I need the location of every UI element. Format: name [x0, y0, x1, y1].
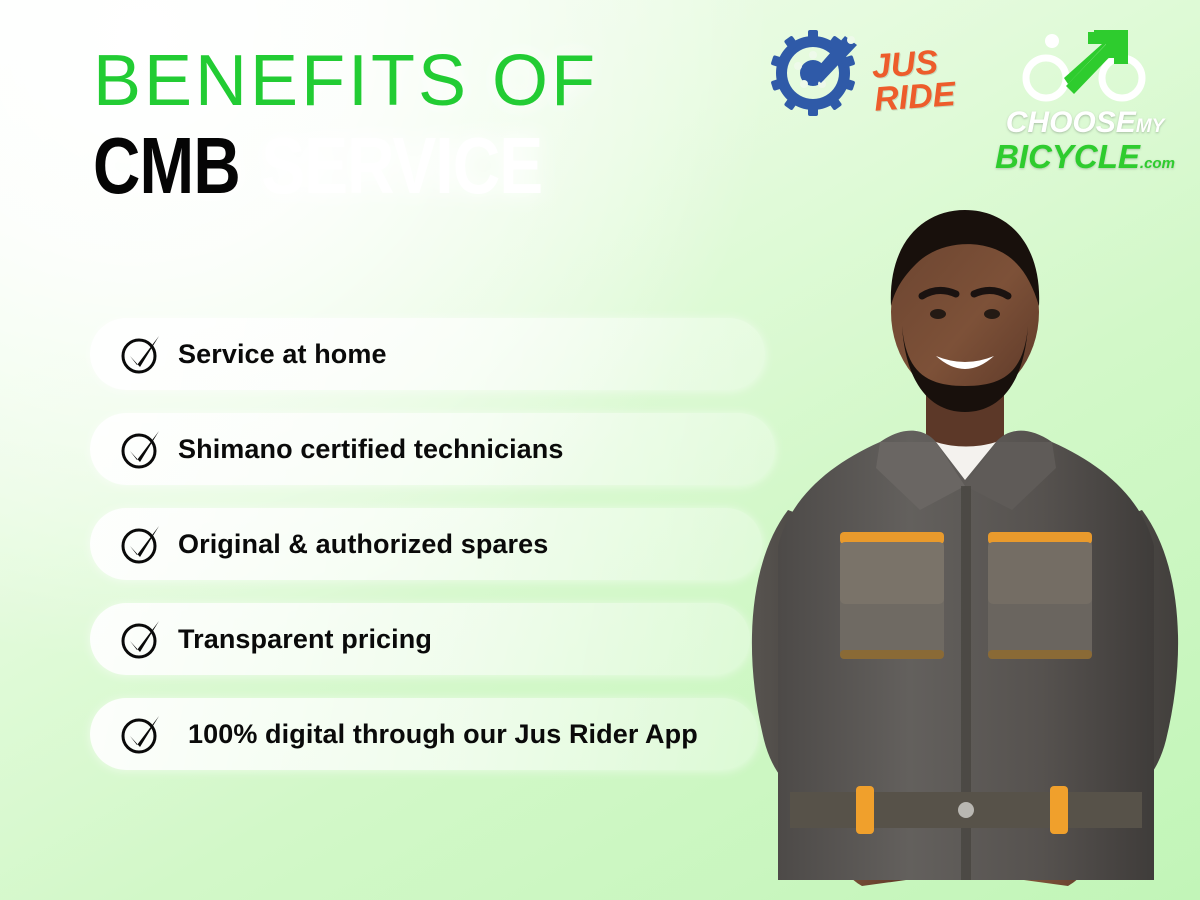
- bicycle-text: BICYCLE: [995, 138, 1140, 175]
- benefits-list: Service at home Shimano certified techni…: [90, 318, 775, 793]
- benefit-label: Service at home: [178, 339, 387, 370]
- check-circle-icon: [118, 522, 162, 566]
- headline-block: BENEFITS OF CMBSERVICE: [93, 42, 793, 208]
- check-circle-icon: [118, 332, 162, 376]
- headline-word-service: SERVICE: [261, 121, 542, 210]
- check-circle-icon: [118, 427, 162, 471]
- jus-ride-wordmark: JUS RIDE: [871, 45, 957, 117]
- benefit-label: Original & authorized spares: [178, 529, 548, 560]
- choose-text: CHOOSE: [1006, 106, 1136, 139]
- choosemybicycle-wordmark-line-1: CHOOSEMY: [1006, 107, 1165, 142]
- check-circle-icon: [118, 617, 162, 661]
- benefit-label: 100% digital through our Jus Rider App: [188, 719, 698, 750]
- benefit-item: Transparent pricing: [90, 603, 750, 675]
- headline-brand-cmb: CMB: [93, 121, 240, 210]
- headline-line-1: BENEFITS OF: [93, 42, 793, 120]
- jus-ride-logo[interactable]: JUS RIDE: [767, 28, 954, 133]
- benefit-label: Shimano certified technicians: [178, 434, 564, 465]
- jus-ride-line-2: RIDE: [873, 78, 956, 117]
- benefit-item: Original & authorized spares: [90, 508, 762, 580]
- check-circle-icon: [118, 712, 162, 756]
- technician-photo: [730, 180, 1200, 900]
- headline-line-2: CMBSERVICE: [93, 124, 667, 208]
- logo-group: JUS RIDE: [767, 28, 1180, 181]
- bicycle-arrow-icon: [1010, 28, 1160, 107]
- benefit-item: Shimano certified technicians: [90, 413, 775, 485]
- benefit-item: Service at home: [90, 318, 765, 390]
- choosemybicycle-logo[interactable]: CHOOSEMY BICYCLE.com: [990, 28, 1180, 181]
- benefit-label: Transparent pricing: [178, 624, 432, 655]
- benefit-item: 100% digital through our Jus Rider App: [90, 698, 758, 770]
- poster-canvas: BENEFITS OF CMBSERVICE: [0, 0, 1200, 900]
- my-text: MY: [1136, 116, 1165, 137]
- choosemybicycle-wordmark-line-2: BICYCLE.com: [995, 140, 1175, 181]
- dotcom-text: .com: [1140, 155, 1175, 172]
- chainring-crank-icon: [767, 28, 867, 133]
